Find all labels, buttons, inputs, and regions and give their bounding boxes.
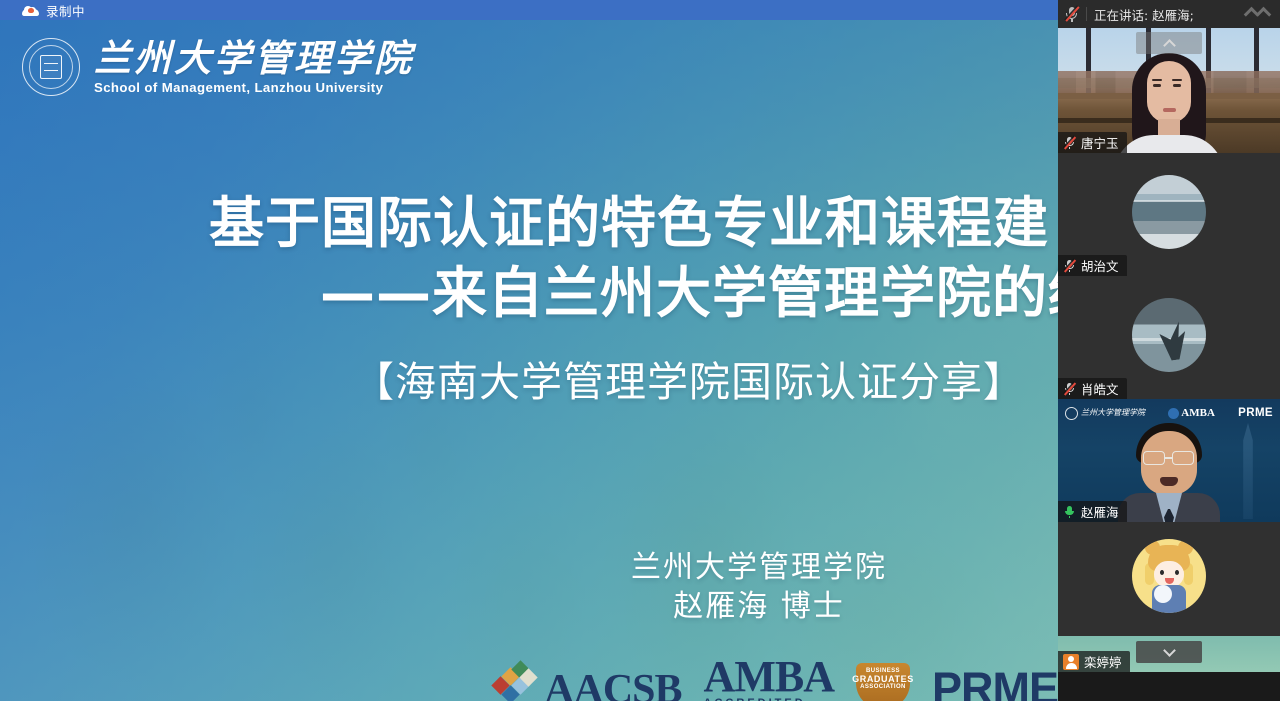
- brand-name-en: School of Management, Lanzhou University: [94, 80, 414, 95]
- participant-name-badge: 肖皓文: [1058, 378, 1127, 399]
- mic-active-icon: [1063, 505, 1076, 519]
- participant-name-badge: 唐宁玉: [1058, 132, 1127, 153]
- virtual-bg-lzu-cn: 兰州大学管理学院: [1081, 409, 1145, 417]
- slide-title-line-1: 基于国际认证的特色专业和课程建: [200, 188, 1058, 258]
- double-chevron-collapse-icon[interactable]: [1240, 4, 1274, 24]
- recording-label: 录制中: [46, 1, 85, 20]
- participant-tile[interactable]: 肖皓文: [1058, 276, 1280, 399]
- participant-name: 栾婷婷: [1084, 652, 1122, 671]
- lanzhou-university-seal-icon: [22, 38, 80, 96]
- participant-face: [1132, 53, 1206, 153]
- virtual-bg-amba-logo: AMBA: [1168, 408, 1215, 419]
- participant-tile[interactable]: 栾婷婷: [1058, 522, 1280, 672]
- presenter-name: 赵雁海 博士: [230, 587, 1058, 626]
- mic-muted-icon[interactable]: [1064, 6, 1079, 22]
- aacsb-diamond-icon: [491, 663, 537, 701]
- participant-panel: 正在讲话: 赵雁海;: [1058, 0, 1280, 701]
- prme-logo: PRME: [932, 669, 1058, 701]
- chevron-up-icon: [1163, 39, 1176, 52]
- recording-status-bar: 录制中: [0, 0, 1058, 20]
- bga-line-3: ASSOCIATION: [860, 683, 906, 691]
- virtual-bg-prme-logo: PRME: [1238, 408, 1273, 419]
- virtual-bg-lzu-logo: 兰州大学管理学院: [1065, 407, 1145, 420]
- avatar: [1132, 539, 1206, 613]
- participant-face: [1130, 423, 1208, 522]
- participant-name-badge: 胡治文: [1058, 255, 1127, 276]
- bga-seal-logo: BUSINESS GRADUATES ASSOCIATION: [856, 663, 910, 701]
- brand-name-cn: 兰州大学管理学院: [94, 39, 414, 78]
- shared-screen-slide: 兰州大学管理学院 School of Management, Lanzhou U…: [0, 0, 1058, 701]
- participant-avatar-area: [1058, 522, 1280, 636]
- phone-participant-icon: [1063, 654, 1079, 670]
- participant-tile[interactable]: 唐宁玉: [1058, 28, 1280, 153]
- avatar: [1132, 175, 1206, 249]
- participant-tile[interactable]: 胡治文: [1058, 153, 1280, 276]
- participant-name: 胡治文: [1081, 256, 1119, 275]
- amba-logo: AMBA ACCREDITED: [704, 657, 834, 701]
- participant-name-badge: 赵雁海: [1058, 501, 1127, 522]
- avatar: [1132, 298, 1206, 372]
- participant-name: 唐宁玉: [1081, 133, 1119, 152]
- cloud-record-icon: [22, 5, 39, 16]
- header-divider: [1086, 7, 1087, 21]
- participant-tile-active-speaker[interactable]: 兰州大学管理学院 AMBA PRME: [1058, 399, 1280, 522]
- chevron-down-icon: [1163, 644, 1176, 657]
- meeting-screen: 兰州大学管理学院 School of Management, Lanzhou U…: [0, 0, 1280, 701]
- slide-subtitle: 【海南大学管理学院国际认证分享】: [160, 356, 1058, 408]
- slide-title-line-2: ——来自兰州大学管理学院的经: [320, 258, 1058, 328]
- slide-title: 基于国际认证的特色专业和课程建 ——来自兰州大学管理学院的经: [0, 188, 1058, 328]
- slide-presenter-block: 兰州大学管理学院 赵雁海 博士: [230, 548, 1058, 626]
- participant-name: 肖皓文: [1081, 379, 1119, 398]
- presenter-organization: 兰州大学管理学院: [230, 548, 1058, 587]
- participant-name: 赵雁海: [1081, 502, 1119, 521]
- scroll-down-button[interactable]: [1136, 641, 1202, 663]
- accreditation-logos: AACSB AMBA ACCREDITED BUSINESS GRADUATES…: [0, 651, 1058, 701]
- participant-tiles[interactable]: 唐宁玉 胡治文: [1058, 28, 1280, 701]
- scroll-up-button[interactable]: [1136, 32, 1202, 54]
- bga-line-2: GRADUATES: [852, 675, 914, 683]
- panel-header: 正在讲话: 赵雁海;: [1058, 0, 1280, 28]
- mic-muted-icon: [1063, 382, 1076, 396]
- participant-name-badge: 栾婷婷: [1058, 651, 1130, 672]
- amba-label: AMBA: [704, 657, 834, 697]
- aacsb-logo: AACSB: [491, 663, 681, 701]
- slide-brand-lockup: 兰州大学管理学院 School of Management, Lanzhou U…: [22, 38, 414, 96]
- mic-muted-icon: [1063, 259, 1076, 273]
- virtual-bg-amba: AMBA: [1181, 408, 1215, 419]
- prme-label: PRME: [932, 669, 1058, 701]
- speaking-label: 正在讲话: 赵雁海;: [1094, 5, 1233, 24]
- aacsb-label: AACSB: [544, 671, 681, 701]
- mic-muted-icon: [1063, 136, 1076, 150]
